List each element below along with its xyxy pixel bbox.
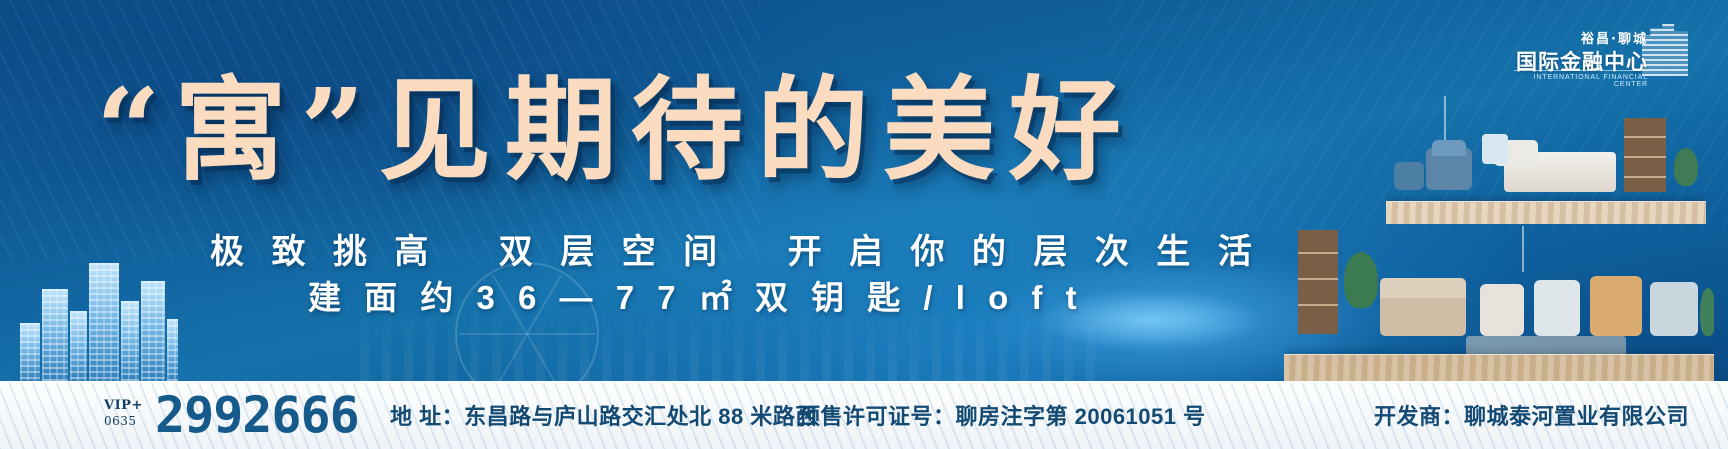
subtitle-features: 极 致 挑 高 双 层 空 间 开 启 你 的 层 次 生 活 [210, 232, 1210, 272]
phone-number[interactable]: 2992666 [155, 389, 359, 441]
subtitle-area-spec: 建 面 约 3 6 — 7 7 ㎡ 双 钥 匙 / l o f t [308, 278, 1208, 318]
logo-divider [1514, 70, 1646, 71]
address-text: 地 址：东昌路与庐山路交汇处北 88 米路西 [390, 404, 818, 430]
interior-photo-living-room [1284, 226, 1714, 381]
real-estate-banner: “寓”见期待的美好 极 致 挑 高 双 层 空 间 开 启 你 的 层 次 生 … [0, 0, 1728, 449]
city-skyline-illustration [18, 246, 178, 381]
logo-english-line: INTERNATIONAL FINANCIAL CENTER [1508, 74, 1648, 88]
project-logo: 裕昌·聊城 国际金融中心 INTERNATIONAL FINANCIAL CEN… [1508, 24, 1690, 98]
area-code: 0635 [104, 415, 156, 428]
logo-name-line: 国际金融中心 [1508, 46, 1648, 76]
banner-artwork: “寓”见期待的美好 极 致 挑 高 双 层 空 间 开 启 你 的 层 次 生 … [0, 0, 1728, 381]
vip-label: VIP+ [104, 399, 156, 412]
developer-text: 开发商：聊城泰河置业有限公司 [1374, 404, 1689, 430]
interior-photo-bedroom [1386, 96, 1706, 224]
headline: “寓”见期待的美好 [96, 72, 1186, 190]
vip-label-group: VIP+ 0635 [104, 399, 156, 428]
building-icon [1642, 24, 1688, 76]
footer-info-bar: VIP+ 0635 2992666 地 址：东昌路与庐山路交汇处北 88 米路西… [0, 381, 1728, 449]
logo-brand-line: 裕昌·聊城 [1508, 28, 1648, 47]
presale-license-text: 预售许可证号：聊房注字第 20061051 号 [798, 404, 1206, 430]
